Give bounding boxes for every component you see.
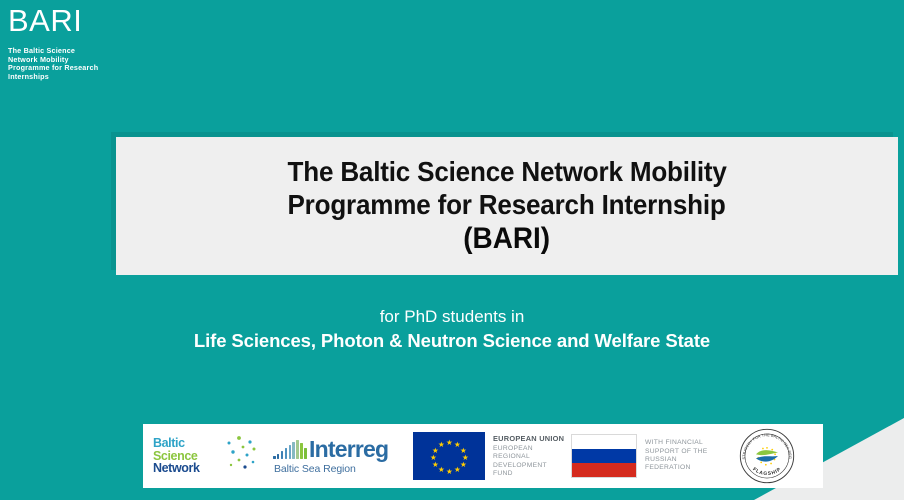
title-line-2: Programme for Research Internship <box>288 188 726 221</box>
baltic-science-network-logo: Baltic Science Network <box>143 424 261 488</box>
bsn-wordmark: Baltic Science Network <box>153 437 200 475</box>
eu-flag-icon: ★ ★ ★ ★ ★ ★ ★ ★ ★ ★ ★ ★ <box>413 432 485 480</box>
brand-acronym: BARI <box>8 4 98 38</box>
eu-fund-line: REGIONAL <box>493 453 564 461</box>
bsn-word-network: Network <box>153 462 200 475</box>
russian-support-line: WITH FINANCIAL <box>645 439 708 447</box>
bsn-constellation-icon <box>209 435 257 471</box>
russian-support-lines: WITH FINANCIAL SUPPORT OF THE RUSSIAN FE… <box>645 439 708 473</box>
interreg-logo: Interreg Baltic Sea Region <box>261 424 401 488</box>
subtitle-block: for PhD students in Life Sciences, Photo… <box>0 305 904 353</box>
interreg-programme-name: Baltic Sea Region <box>273 463 388 475</box>
brand-subtitle-line: Internships <box>8 73 98 82</box>
sponsor-logo-strip: Baltic Science Network <box>143 424 823 488</box>
brand-block: BARI The Baltic Science Network Mobility… <box>8 4 98 81</box>
interreg-wordmark: Interreg <box>309 438 388 461</box>
russian-support-line: SUPPORT OF THE <box>645 448 708 456</box>
eu-text-block: EUROPEAN UNION EUROPEAN REGIONAL DEVELOP… <box>493 434 564 479</box>
bsn-word-baltic: Baltic <box>153 437 200 450</box>
russian-support-line: FEDERATION <box>645 464 708 472</box>
interreg-wordmark-row: Interreg <box>273 438 388 461</box>
subtitle-line-2: Life Sciences, Photon & Neutron Science … <box>0 328 904 353</box>
european-union-logo: ★ ★ ★ ★ ★ ★ ★ ★ ★ ★ ★ ★ EUROPEAN UNION E… <box>401 424 561 488</box>
eu-fund-lines: EUROPEAN REGIONAL DEVELOPMENT FUND <box>493 445 564 479</box>
flagship-badge-icon: EU STRATEGY FOR THE BALTIC SEA REGION FL… <box>738 427 796 485</box>
eu-title: EUROPEAN UNION <box>493 434 564 444</box>
title-line-1: The Baltic Science Network Mobility <box>287 155 726 188</box>
russian-federation-logo: WITH FINANCIAL SUPPORT OF THE RUSSIAN FE… <box>561 424 719 488</box>
interreg-bars-icon <box>273 439 308 459</box>
subtitle-line-1: for PhD students in <box>0 305 904 328</box>
eu-fund-line: FUND <box>493 470 564 478</box>
eu-fund-line: DEVELOPMENT <box>493 462 564 470</box>
brand-subtitle: The Baltic Science Network Mobility Prog… <box>8 47 98 81</box>
title-card: The Baltic Science Network Mobility Prog… <box>116 137 898 275</box>
eusbsr-flagship-badge: EU STRATEGY FOR THE BALTIC SEA REGION FL… <box>719 424 815 488</box>
eu-fund-line: EUROPEAN <box>493 445 564 453</box>
russian-support-line: RUSSIAN <box>645 456 708 464</box>
title-acronym: (BARI) <box>464 221 551 257</box>
russian-flag-icon <box>571 434 637 478</box>
